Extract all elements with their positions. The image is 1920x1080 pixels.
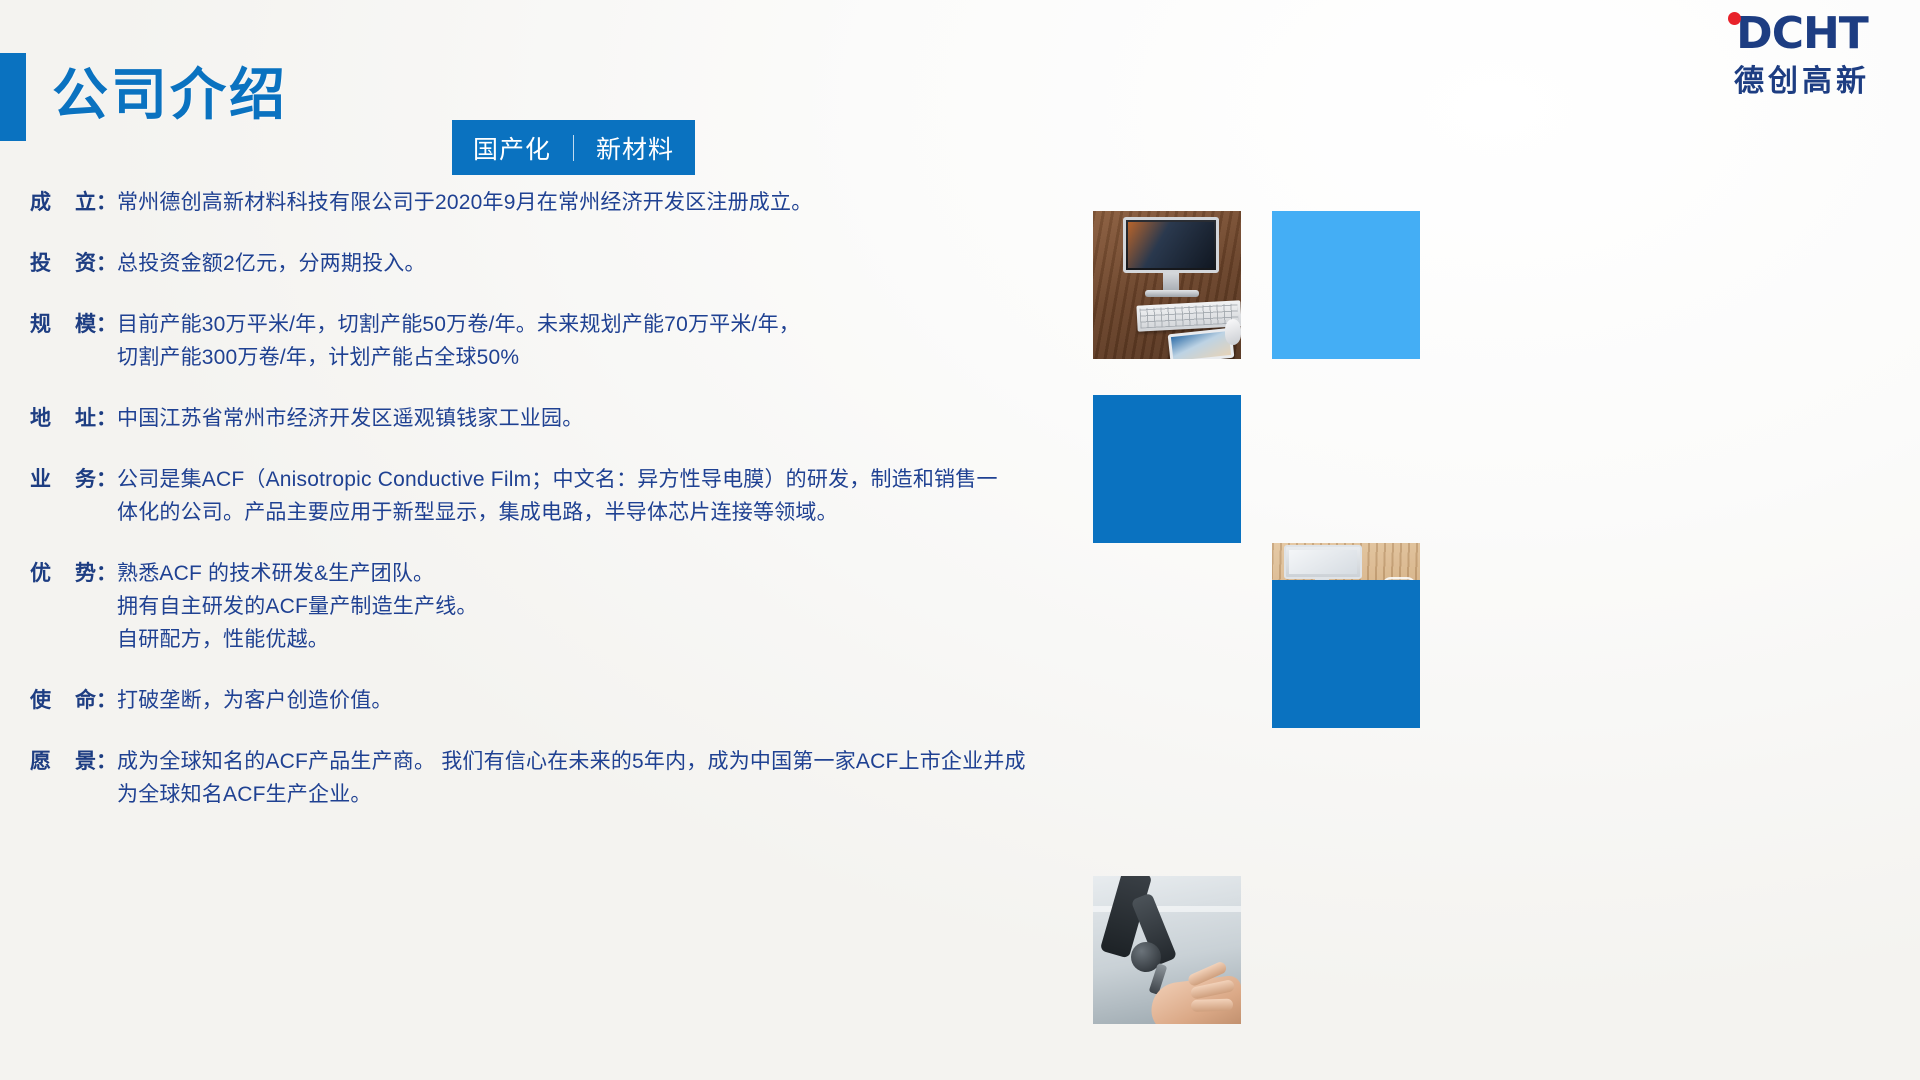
info-line: 拥有自主研发的ACF量产制造生产线。 (117, 590, 1090, 623)
info-list: 成立 ： 常州德创高新材料科技有限公司于2020年9月在常州经济开发区注册成立。… (30, 186, 1090, 833)
banner-left-label: 国产化 (473, 130, 551, 166)
grid-photo-desk-imac (1093, 211, 1241, 359)
info-line: 公司是集ACF（Anisotropic Conductive Film；中文名：… (117, 463, 1090, 496)
monitor-icon (1284, 545, 1362, 579)
logo-chinese-name: 德创高新 (1706, 64, 1898, 100)
grid-color-tile-blue-left (1093, 395, 1241, 543)
info-line: 打破垄断，为客户创造价值。 (117, 684, 1090, 717)
info-value: 常州德创高新材料科技有限公司于2020年9月在常州经济开发区注册成立。 (117, 186, 1090, 219)
hand-finger (1191, 999, 1233, 1012)
banner-right-label: 新材料 (596, 130, 674, 166)
mouse-icon (1225, 319, 1241, 345)
info-row-scale: 规模 ： 目前产能30万平米/年，切割产能50万卷/年。未来规划产能70万平米/… (30, 308, 1090, 374)
info-label: 投资 (30, 247, 96, 280)
info-line: 成为全球知名的ACF产品生产商。 我们有信心在未来的5年内，成为中国第一家ACF… (117, 745, 1090, 778)
info-value: 打破垄断，为客户创造价值。 (117, 684, 1090, 717)
banner-separator-icon (573, 135, 574, 161)
info-label: 使命 (30, 684, 96, 717)
info-line: 中国江苏省常州市经济开发区遥观镇钱家工业园。 (117, 402, 1090, 435)
info-line: 自研配方，性能优越。 (117, 623, 1090, 656)
info-row-mission: 使命 ： 打破垄断，为客户创造价值。 (30, 684, 1090, 717)
logo-mark: DCHT (1706, 8, 1898, 64)
info-line: 体化的公司。产品主要应用于新型显示，集成电路，半导体芯片连接等领域。 (117, 496, 1090, 529)
info-value: 成为全球知名的ACF产品生产商。 我们有信心在未来的5年内，成为中国第一家ACF… (117, 745, 1090, 811)
info-line: 总投资金额2亿元，分两期投入。 (117, 247, 1090, 280)
info-colon: ： (96, 402, 117, 435)
grid-color-tile-blue-right (1272, 580, 1420, 728)
info-line: 熟悉ACF 的技术研发&生产团队。 (117, 557, 1090, 590)
grid-color-tile-light-blue (1272, 211, 1420, 359)
info-label: 地址 (30, 402, 96, 435)
info-row-vision: 愿景 ： 成为全球知名的ACF产品生产商。 我们有信心在未来的5年内，成为中国第… (30, 745, 1090, 811)
info-colon: ： (96, 745, 117, 778)
info-value: 中国江苏省常州市经济开发区遥观镇钱家工业园。 (117, 402, 1090, 435)
slide-root: 公司介绍 DCHT 德创高新 国产化 新材料 成立 ： 常州德创高新材料科技有限… (0, 0, 1920, 1080)
info-row-investment: 投资 ： 总投资金额2亿元，分两期投入。 (30, 247, 1090, 280)
page-title: 公司介绍 (52, 45, 288, 145)
info-label: 业务 (30, 463, 96, 496)
logo-red-dot-icon (1728, 12, 1741, 25)
info-row-address: 地址 ： 中国江苏省常州市经济开发区遥观镇钱家工业园。 (30, 402, 1090, 435)
company-logo: DCHT 德创高新 (1706, 8, 1898, 104)
info-row-business: 业务 ： 公司是集ACF（Anisotropic Conductive Film… (30, 463, 1090, 529)
info-colon: ： (96, 557, 117, 590)
info-value: 熟悉ACF 的技术研发&生产团队。 拥有自主研发的ACF量产制造生产线。 自研配… (117, 557, 1090, 656)
info-label: 成立 (30, 186, 96, 219)
imac-monitor-icon (1123, 217, 1219, 273)
section-banner: 国产化 新材料 (452, 120, 695, 175)
grid-photo-robotic-arm (1093, 876, 1241, 1024)
info-line: 为全球知名ACF生产企业。 (117, 778, 1090, 811)
info-value: 目前产能30万平米/年，切割产能50万卷/年。未来规划产能70万平米/年， 切割… (117, 308, 1090, 374)
photo-grid (1093, 211, 1420, 728)
info-colon: ： (96, 463, 117, 496)
info-colon: ： (96, 684, 117, 717)
info-value: 总投资金额2亿元，分两期投入。 (117, 247, 1090, 280)
info-label: 愿景 (30, 745, 96, 778)
info-label: 规模 (30, 308, 96, 341)
info-value: 公司是集ACF（Anisotropic Conductive Film；中文名：… (117, 463, 1090, 529)
title-accent-bar (0, 53, 26, 141)
info-row-advantage: 优势 ： 熟悉ACF 的技术研发&生产团队。 拥有自主研发的ACF量产制造生产线… (30, 557, 1090, 656)
info-colon: ： (96, 308, 117, 341)
monitor-stand (1163, 273, 1179, 291)
info-line: 切割产能300万卷/年，计划产能占全球50% (117, 341, 1090, 374)
info-line: 目前产能30万平米/年，切割产能50万卷/年。未来规划产能70万平米/年， (117, 308, 1090, 341)
info-line: 常州德创高新材料科技有限公司于2020年9月在常州经济开发区注册成立。 (117, 186, 1090, 219)
info-label: 优势 (30, 557, 96, 590)
info-colon: ： (96, 186, 117, 219)
monitor-base (1145, 290, 1199, 297)
info-row-founding: 成立 ： 常州德创高新材料科技有限公司于2020年9月在常州经济开发区注册成立。 (30, 186, 1090, 219)
info-colon: ： (96, 247, 117, 280)
